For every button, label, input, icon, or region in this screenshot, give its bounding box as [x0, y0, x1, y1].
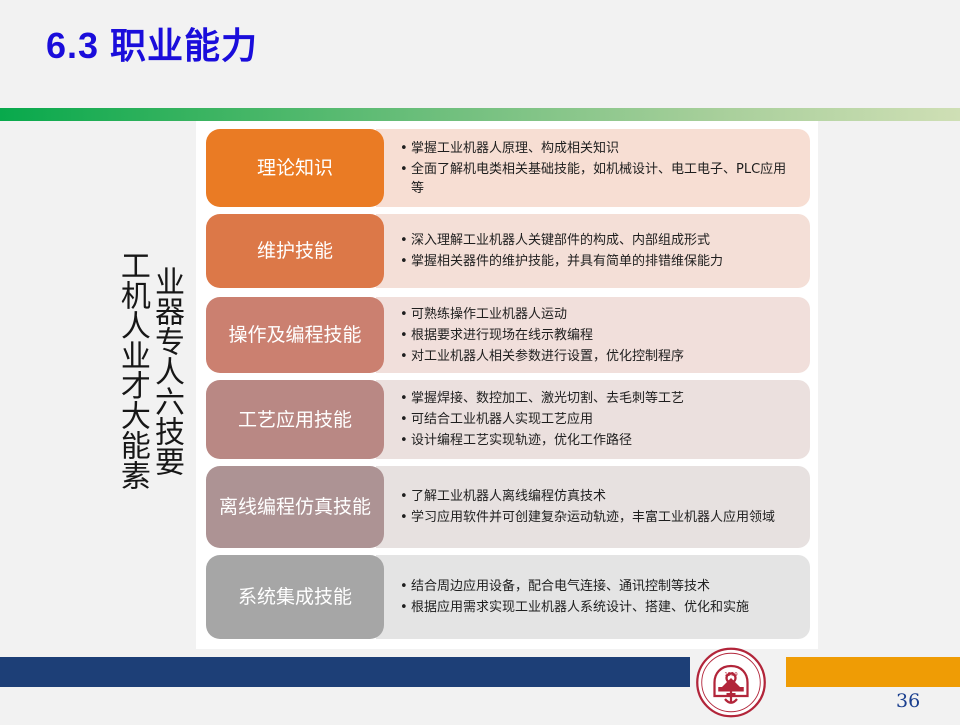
skill-row-label-text: 维护技能	[257, 238, 333, 264]
page-number: 36	[896, 690, 920, 712]
skill-row: 系统集成技能结合周边应用设备，配合电气连接、通讯控制等技术根据应用需求实现工业机…	[206, 555, 810, 639]
skill-bullet: 根据应用需求实现工业机器人系统设计、搭建、优化和实施	[400, 598, 798, 617]
skill-row: 维护技能深入理解工业机器人关键部件的构成、内部组成形式掌握相关器件的维护技能，并…	[206, 214, 810, 288]
skill-row: 操作及编程技能可熟练操作工业机器人运动根据要求进行现场在线示教编程对工业机器人相…	[206, 297, 810, 373]
skill-bullet: 可结合工业机器人实现工艺应用	[400, 410, 798, 429]
skill-bullet: 学习应用软件并可创建复杂运动轨迹，丰富工业机器人应用领域	[400, 508, 798, 527]
skill-row-body: 结合周边应用设备，配合电气连接、通讯控制等技术根据应用需求实现工业机器人系统设计…	[376, 555, 810, 639]
skill-bullet: 可熟练操作工业机器人运动	[400, 305, 798, 324]
skill-row-body: 可熟练操作工业机器人运动根据要求进行现场在线示教编程对工业机器人相关参数进行设置…	[376, 297, 810, 373]
skill-bullet: 掌握相关器件的维护技能，并具有简单的排错维保能力	[400, 252, 798, 271]
skill-row-body: 深入理解工业机器人关键部件的构成、内部组成形式掌握相关器件的维护技能，并具有简单…	[376, 214, 810, 288]
page-title: 6.3 职业能力	[46, 22, 258, 70]
skill-row-label-text: 工艺应用技能	[238, 407, 352, 433]
skill-row-body: 掌握工业机器人原理、构成相关知识全面了解机电类相关基础技能，如机械设计、电工电子…	[376, 129, 810, 207]
skill-rows-list: 理论知识掌握工业机器人原理、构成相关知识全面了解机电类相关基础技能，如机械设计、…	[196, 121, 818, 649]
content-panel: 理论知识掌握工业机器人原理、构成相关知识全面了解机电类相关基础技能，如机械设计、…	[196, 121, 818, 649]
title-divider-bar	[0, 108, 960, 121]
skill-row: 离线编程仿真技能了解工业机器人离线编程仿真技术学习应用软件并可创建复杂运动轨迹，…	[206, 466, 810, 548]
skill-row-label: 离线编程仿真技能	[206, 466, 384, 548]
footer-right-bar	[786, 657, 960, 687]
skill-row: 理论知识掌握工业机器人原理、构成相关知识全面了解机电类相关基础技能，如机械设计、…	[206, 129, 810, 207]
logo-year: 1959	[724, 672, 737, 678]
skill-row-body: 了解工业机器人离线编程仿真技术学习应用软件并可创建复杂运动轨迹，丰富工业机器人应…	[376, 466, 810, 548]
skill-row-label: 理论知识	[206, 129, 384, 207]
footer-left-bar	[0, 657, 690, 687]
vertical-caption-column-right: 业器专人六技要	[150, 250, 182, 570]
skill-row-label: 系统集成技能	[206, 555, 384, 639]
skill-bullet: 全面了解机电类相关基础技能，如机械设计、电工电子、PLC应用等	[400, 160, 798, 198]
skill-row-label: 维护技能	[206, 214, 384, 288]
skill-row-label: 操作及编程技能	[206, 297, 384, 373]
skill-row-body: 掌握焊接、数控加工、激光切割、去毛刺等工艺可结合工业机器人实现工艺应用设计编程工…	[376, 380, 810, 459]
vertical-caption: 业器专人六技要 工机人业才大能素	[62, 250, 182, 570]
skill-row-label: 工艺应用技能	[206, 380, 384, 459]
skill-row-label-text: 理论知识	[257, 155, 333, 181]
skill-row-label-text: 系统集成技能	[238, 584, 352, 610]
skill-bullet: 了解工业机器人离线编程仿真技术	[400, 487, 798, 506]
skill-bullet: 设计编程工艺实现轨迹，优化工作路径	[400, 431, 798, 450]
skill-bullet: 掌握工业机器人原理、构成相关知识	[400, 139, 798, 158]
vertical-caption-column-left: 工机人业才大能素	[116, 250, 148, 570]
skill-row-label-text: 操作及编程技能	[228, 322, 361, 348]
skill-bullet: 对工业机器人相关参数进行设置，优化控制程序	[400, 347, 798, 366]
skill-bullet: 结合周边应用设备，配合电气连接、通讯控制等技术	[400, 577, 798, 596]
skill-bullet: 掌握焊接、数控加工、激光切割、去毛刺等工艺	[400, 389, 798, 408]
skill-bullet: 深入理解工业机器人关键部件的构成、内部组成形式	[400, 231, 798, 250]
school-seal-logo: 1959	[692, 645, 770, 720]
skill-row-label-text: 离线编程仿真技能	[219, 494, 371, 520]
skill-bullet: 根据要求进行现场在线示教编程	[400, 326, 798, 345]
skill-row: 工艺应用技能掌握焊接、数控加工、激光切割、去毛刺等工艺可结合工业机器人实现工艺应…	[206, 380, 810, 459]
